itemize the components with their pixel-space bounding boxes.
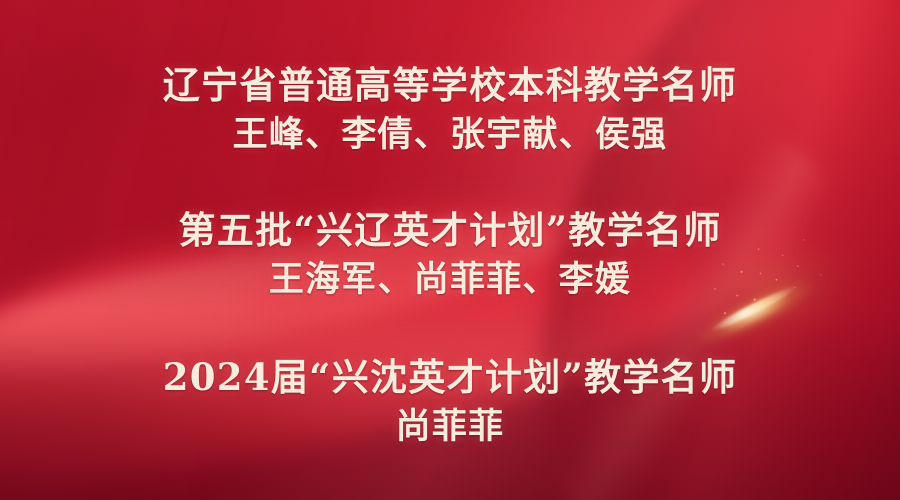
poster-canvas: 辽宁省普通高等学校本科教学名师 王峰、李倩、张宇献、侯强 第五批“兴辽英才计划”… bbox=[0, 0, 900, 500]
honor-names-provincial: 王峰、李倩、张宇献、侯强 bbox=[0, 113, 900, 157]
honor-names-xingliao: 王海军、尚菲菲、李媛 bbox=[0, 258, 900, 302]
honor-title-provincial: 辽宁省普通高等学校本科教学名师 bbox=[0, 62, 900, 108]
honor-title-xingliao: 第五批“兴辽英才计划”教学名师 bbox=[0, 207, 900, 253]
honor-list: 辽宁省普通高等学校本科教学名师 王峰、李倩、张宇献、侯强 第五批“兴辽英才计划”… bbox=[0, 0, 900, 500]
honor-block-provincial: 辽宁省普通高等学校本科教学名师 王峰、李倩、张宇献、侯强 bbox=[0, 62, 900, 157]
honor-names-xingshen: 尚菲菲 bbox=[0, 405, 900, 449]
honor-title-xingshen: 2024届“兴沈英才计划”教学名师 bbox=[0, 354, 900, 400]
honor-block-xingliao: 第五批“兴辽英才计划”教学名师 王海军、尚菲菲、李媛 bbox=[0, 207, 900, 302]
honor-block-xingshen: 2024届“兴沈英才计划”教学名师 尚菲菲 bbox=[0, 354, 900, 449]
